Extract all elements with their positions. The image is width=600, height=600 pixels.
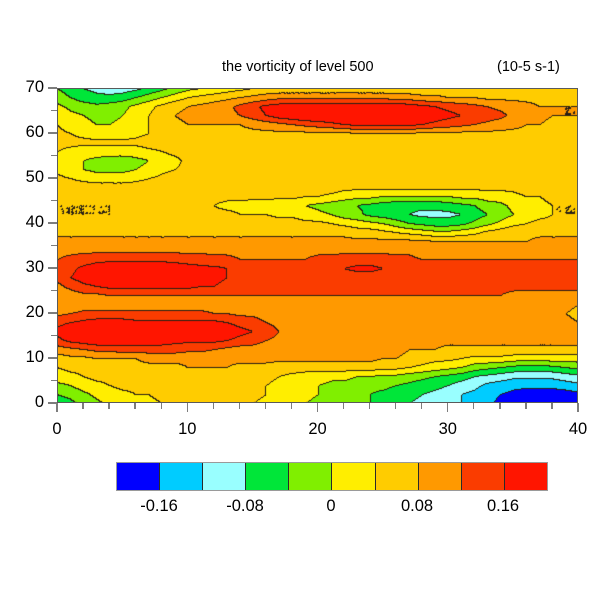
colorbar-swatch-gold[interactable] bbox=[376, 463, 419, 490]
y-tick-minor bbox=[51, 155, 57, 156]
y-tick-minor bbox=[51, 380, 57, 381]
y-tick-minor bbox=[51, 110, 57, 111]
y-tick-label: 0 bbox=[35, 393, 44, 412]
colorbar-swatch-red[interactable] bbox=[505, 463, 547, 490]
colorbar-swatch-orange[interactable] bbox=[419, 463, 462, 490]
x-tick-major bbox=[187, 403, 188, 412]
x-tick-minor bbox=[291, 403, 292, 409]
x-tick-label: 0 bbox=[52, 420, 61, 439]
y-tick-label: 50 bbox=[26, 168, 44, 187]
y-tick-major bbox=[48, 267, 57, 268]
colorbar-tick-label: 0.08 bbox=[401, 497, 433, 516]
y-tick-label: 10 bbox=[26, 348, 44, 367]
colorbar-swatch-blue[interactable] bbox=[117, 463, 160, 490]
x-tick-minor bbox=[473, 403, 474, 409]
colorbar-swatch-light-cyan[interactable] bbox=[203, 463, 246, 490]
x-tick-label: 20 bbox=[308, 420, 326, 439]
x-tick-major bbox=[56, 403, 57, 412]
units-label: (10-5 s-1) bbox=[497, 59, 560, 75]
plot-area bbox=[57, 88, 578, 403]
x-tick-label: 40 bbox=[569, 420, 587, 439]
x-tick-minor bbox=[551, 403, 552, 409]
x-tick-label: 30 bbox=[439, 420, 457, 439]
y-tick-minor bbox=[51, 200, 57, 201]
page-title: the vorticity of level 500 bbox=[222, 59, 374, 75]
colorbar-swatch-yellow-green[interactable] bbox=[289, 463, 332, 490]
x-tick-minor bbox=[265, 403, 266, 409]
x-tick-major bbox=[577, 403, 578, 412]
colorbar-tick-label: -0.16 bbox=[140, 497, 178, 516]
x-tick-minor bbox=[161, 403, 162, 409]
colorbar-swatch-yellow[interactable] bbox=[332, 463, 375, 490]
colorbar-swatch-green[interactable] bbox=[246, 463, 289, 490]
colorbar-swatch-orange-red[interactable] bbox=[462, 463, 505, 490]
y-tick-label: 60 bbox=[26, 123, 44, 142]
x-tick-minor bbox=[239, 403, 240, 409]
x-tick-minor bbox=[82, 403, 83, 409]
y-tick-minor bbox=[51, 245, 57, 246]
x-tick-minor bbox=[421, 403, 422, 409]
y-tick-major bbox=[48, 132, 57, 133]
y-tick-minor bbox=[51, 335, 57, 336]
x-tick-minor bbox=[525, 403, 526, 409]
colorbar-tick-label: -0.08 bbox=[226, 497, 264, 516]
y-tick-major bbox=[48, 87, 57, 88]
y-tick-label: 30 bbox=[26, 258, 44, 277]
colorbar-tick-label: 0 bbox=[326, 497, 335, 516]
colorbar-swatch-cyan[interactable] bbox=[160, 463, 203, 490]
y-tick-label: 20 bbox=[26, 303, 44, 322]
y-tick-major bbox=[48, 357, 57, 358]
contour-plot-figure: the vorticity of level 500 (10-5 s-1) 01… bbox=[0, 0, 600, 600]
x-tick-minor bbox=[369, 403, 370, 409]
x-tick-label: 10 bbox=[178, 420, 196, 439]
x-tick-minor bbox=[499, 403, 500, 409]
y-tick-major bbox=[48, 222, 57, 223]
x-tick-minor bbox=[213, 403, 214, 409]
y-tick-minor bbox=[51, 290, 57, 291]
x-tick-major bbox=[317, 403, 318, 412]
y-tick-major bbox=[48, 177, 57, 178]
x-tick-minor bbox=[134, 403, 135, 409]
y-tick-label: 70 bbox=[26, 78, 44, 97]
colorbar[interactable] bbox=[116, 462, 548, 491]
y-tick-label: 40 bbox=[26, 213, 44, 232]
x-tick-minor bbox=[395, 403, 396, 409]
x-tick-major bbox=[447, 403, 448, 412]
colorbar-tick-label: 0.16 bbox=[487, 497, 519, 516]
x-tick-minor bbox=[108, 403, 109, 409]
contour-field bbox=[58, 89, 578, 403]
y-tick-major bbox=[48, 312, 57, 313]
x-tick-minor bbox=[343, 403, 344, 409]
